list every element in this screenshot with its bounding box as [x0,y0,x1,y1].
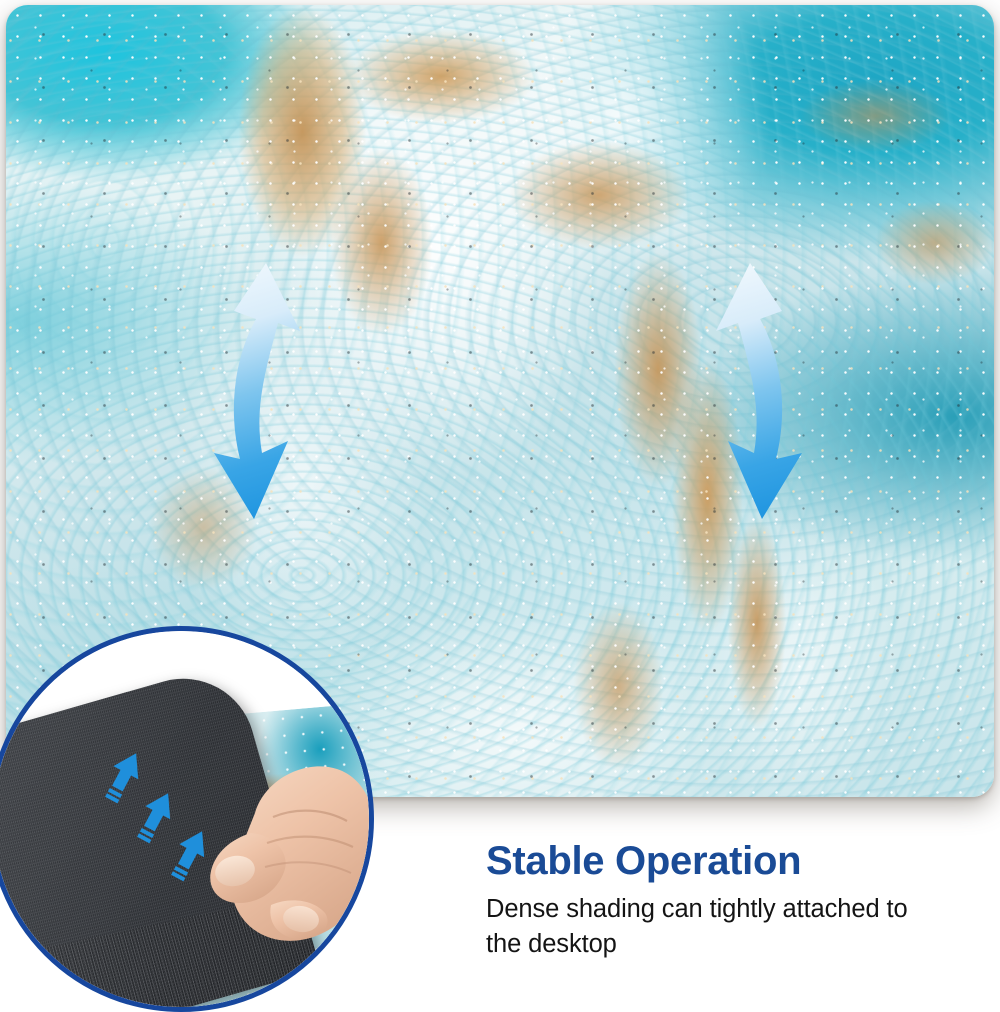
feature-headline: Stable Operation [486,840,936,882]
feature-text-block: Stable Operation Dense shading can tight… [486,840,936,961]
inset-clip [0,631,369,1007]
hand-lifting-pad [209,747,369,947]
feature-subcopy: Dense shading can tightly attached to th… [486,892,936,960]
inset-scene [0,631,369,1007]
inset-callout-circle [0,626,374,1012]
